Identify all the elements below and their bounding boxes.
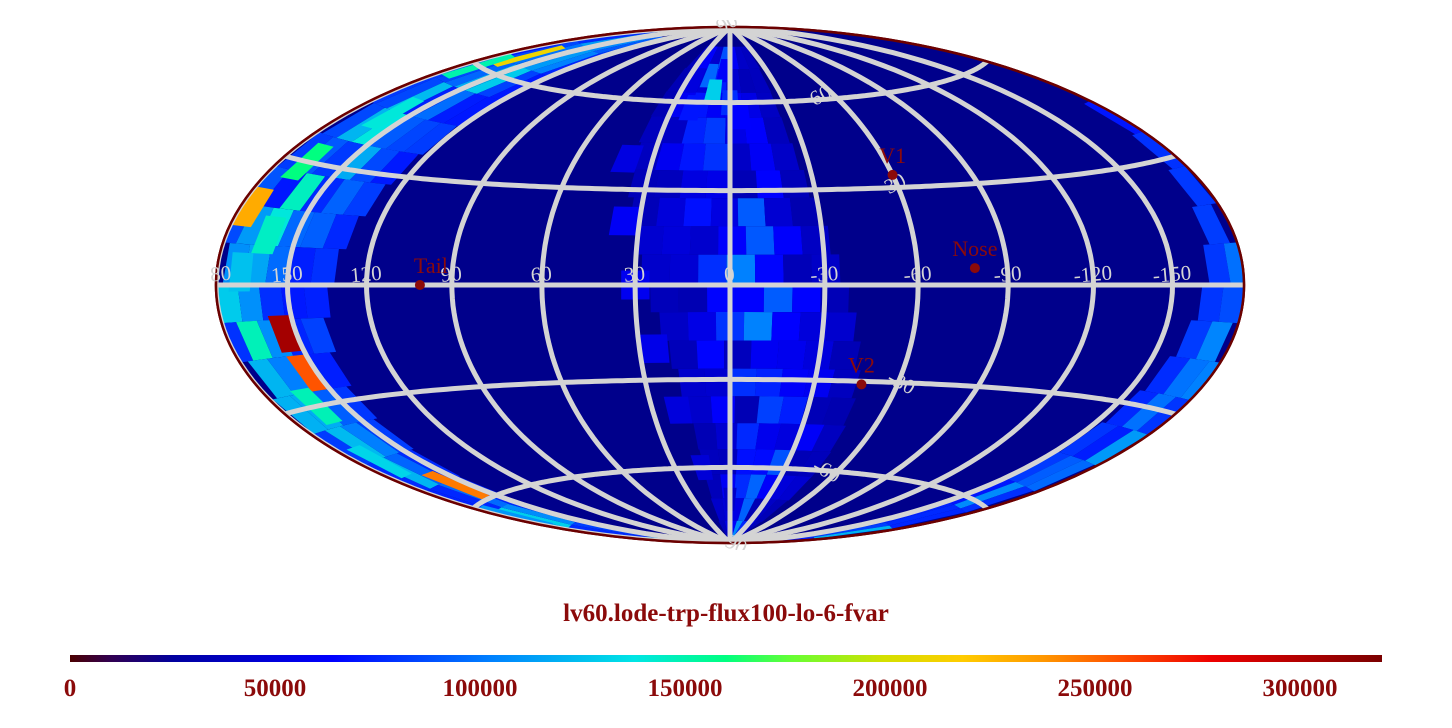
colorbar-tick-label: 0 bbox=[64, 675, 77, 703]
heatmap-cell bbox=[746, 226, 775, 255]
marker-label-v2: V2 bbox=[848, 352, 875, 377]
longitude-label: 120 bbox=[349, 261, 382, 288]
heatmap-cell bbox=[703, 144, 728, 171]
heatmap-cell bbox=[683, 198, 711, 226]
heatmap-cell bbox=[711, 198, 738, 226]
marker-label-tail: Tail bbox=[414, 253, 448, 278]
heatmap-cell bbox=[777, 341, 807, 370]
colorbar-tick-label: 200000 bbox=[853, 675, 928, 703]
colorbar-gradient-strip bbox=[70, 655, 1382, 662]
heatmap-cell bbox=[650, 283, 679, 312]
heatmap-cell bbox=[670, 255, 699, 284]
longitude-label: -150 bbox=[1152, 260, 1192, 287]
sky-map-panel: 60300-30-60-90-120-15018015012090906030-… bbox=[210, 20, 1250, 550]
heatmap-cell bbox=[680, 170, 708, 198]
marker-label-v1: V1 bbox=[879, 143, 906, 168]
colorbar-tick-label: 300000 bbox=[1263, 675, 1338, 703]
heatmap-cell bbox=[688, 312, 717, 341]
longitude-label: -120 bbox=[1073, 260, 1113, 287]
heatmap-cell bbox=[744, 312, 773, 341]
heatmap-cell bbox=[756, 170, 784, 198]
longitude-label: 30 bbox=[623, 261, 646, 287]
heatmap-cell bbox=[783, 255, 812, 284]
heatmap-cell bbox=[826, 312, 857, 341]
colorbar-tick-label: 50000 bbox=[244, 675, 307, 703]
heatmap-cell bbox=[703, 118, 725, 144]
figure-canvas: 60300-30-60-90-120-15018015012090906030-… bbox=[0, 0, 1452, 728]
heatmap-cell bbox=[698, 255, 727, 284]
heatmap-cell bbox=[679, 283, 708, 312]
longitude-label: 60 bbox=[530, 261, 553, 287]
heatmap-cell bbox=[732, 171, 758, 199]
heatmap-cell bbox=[669, 341, 698, 369]
page-title: lv60.lode-trp-flux100-lo-6-fvar bbox=[0, 600, 1452, 628]
longitude-label: 150 bbox=[270, 261, 303, 288]
heatmap-cell bbox=[764, 198, 793, 226]
heatmap-cell bbox=[755, 255, 784, 284]
heatmap-cell bbox=[656, 198, 686, 226]
heatmap-cell bbox=[751, 341, 780, 369]
heatmap-cell bbox=[609, 207, 640, 236]
heatmap-cell bbox=[736, 423, 759, 449]
longitude-label: 0 bbox=[723, 262, 736, 287]
marker-dot-nose bbox=[970, 263, 980, 273]
marker-dot-tail bbox=[415, 280, 425, 290]
heatmap-cell bbox=[662, 226, 691, 255]
heatmap-cell bbox=[736, 283, 765, 312]
heatmap-cell bbox=[792, 283, 821, 312]
heatmap-cell bbox=[697, 341, 725, 369]
heatmap-cell bbox=[281, 283, 308, 319]
heatmap-cell bbox=[773, 226, 803, 255]
heatmap-cell bbox=[690, 226, 719, 255]
heatmap-cell bbox=[715, 423, 737, 449]
heatmap-cell bbox=[771, 312, 800, 341]
colorbar-tick-label: 150000 bbox=[648, 675, 723, 703]
longitude-label: -90 bbox=[993, 261, 1023, 287]
heatmap-cell bbox=[764, 283, 793, 312]
longitude-label: -60 bbox=[903, 261, 933, 287]
heatmap-cell bbox=[735, 396, 760, 423]
aitoff-projection-map: 60300-30-60-90-120-15018015012090906030-… bbox=[210, 20, 1250, 550]
marker-dot-v1 bbox=[888, 170, 898, 180]
colorbar-tick-label: 100000 bbox=[443, 675, 518, 703]
colorbar: 050000100000150000200000250000300000 bbox=[70, 655, 1382, 715]
heatmap-cell bbox=[755, 369, 783, 397]
heatmap-cell bbox=[738, 198, 766, 226]
heatmap-cell bbox=[731, 369, 757, 397]
marker-label-nose: Nose bbox=[952, 236, 997, 261]
heatmap-cell bbox=[303, 283, 330, 318]
heatmap-cell bbox=[639, 334, 669, 363]
longitude-label: -30 bbox=[809, 261, 839, 287]
heatmap-cell bbox=[801, 226, 831, 255]
longitude-label: 180 bbox=[210, 261, 232, 288]
marker-dot-v2 bbox=[856, 379, 866, 389]
heatmap-cell bbox=[704, 369, 730, 397]
heatmap-cell bbox=[678, 369, 706, 397]
colorbar-tick-label: 250000 bbox=[1058, 675, 1133, 703]
